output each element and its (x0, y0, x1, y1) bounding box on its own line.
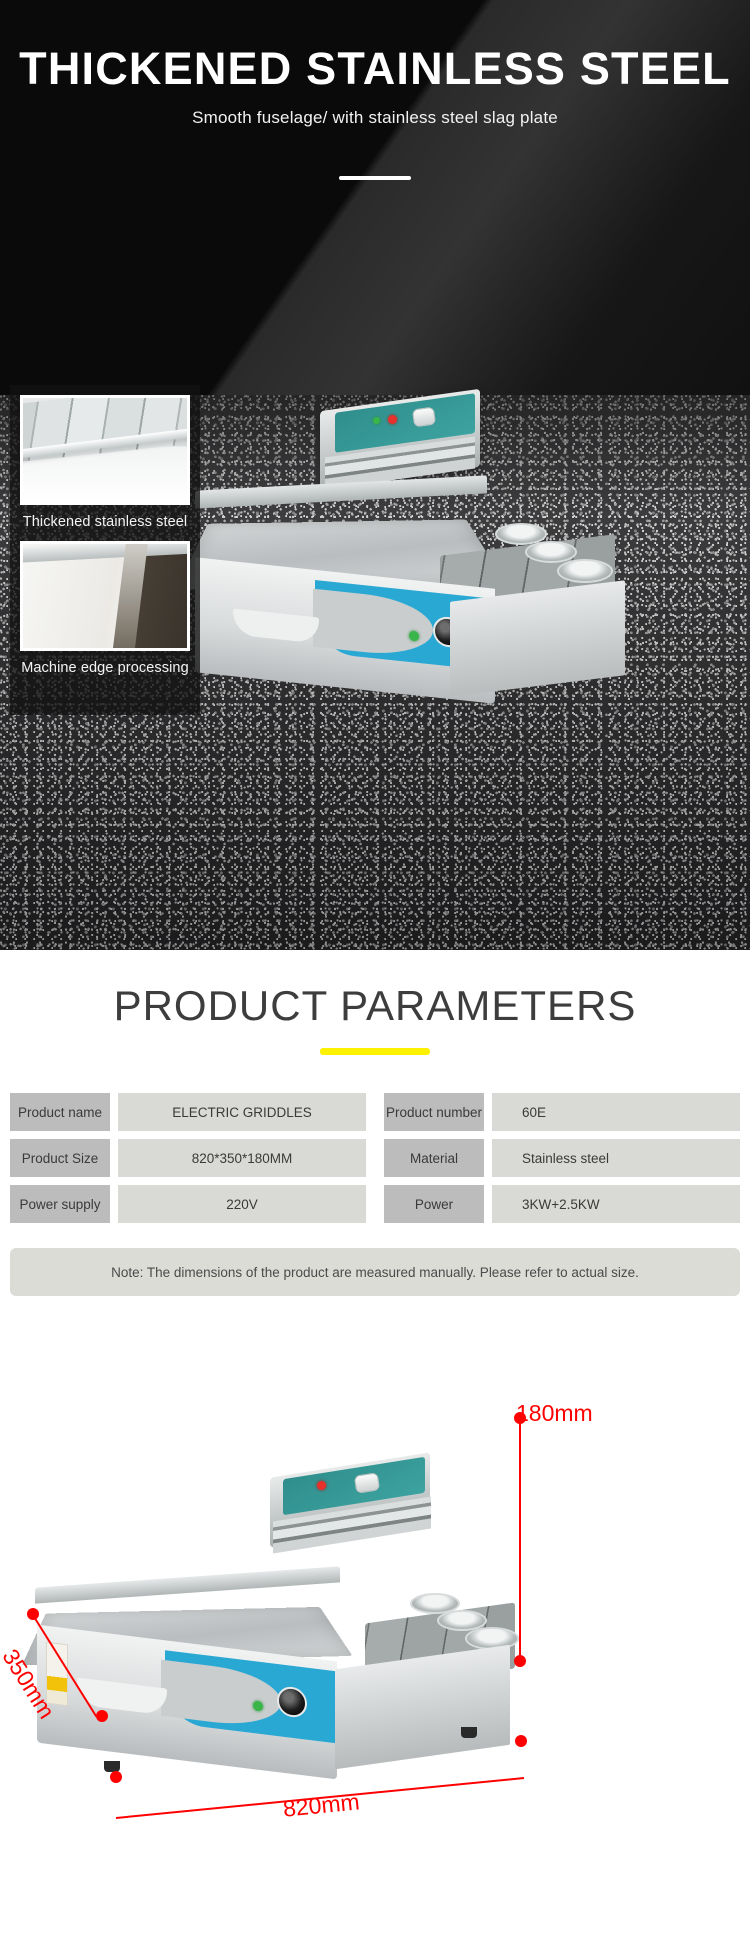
dimension-diagram-section: 180mm 820mm 350mm (0, 1410, 750, 1933)
callout-label: Machine edge processing (10, 651, 200, 687)
condiment-cabinet-body (450, 580, 625, 696)
dimension-product-image (25, 1465, 535, 1855)
dimension-endpoint-dot (110, 1771, 122, 1783)
table-row: Product number 60E (384, 1093, 740, 1131)
hero-divider-rule (339, 176, 411, 180)
parameters-column-left: Product name ELECTRIC GRIDDLES Product S… (10, 1093, 366, 1223)
callout-card: Machine edge processing (10, 541, 200, 687)
table-row: Power supply 220V (10, 1185, 366, 1223)
param-label: Power supply (10, 1185, 110, 1223)
sauce-cup-3 (557, 559, 613, 583)
warmer-red-led (317, 1481, 326, 1490)
dimension-label-height: 180mm (516, 1400, 593, 1427)
dimension-endpoint-dot (96, 1710, 108, 1722)
param-label: Product Size (10, 1139, 110, 1177)
hero-title: THICKENED STAINLESS STEEL (0, 45, 750, 92)
warmer-red-led (388, 415, 397, 424)
measurement-note: Note: The dimensions of the product are … (10, 1248, 740, 1296)
parameters-column-right: Product number 60E Material Stainless st… (384, 1093, 740, 1223)
param-value: ELECTRIC GRIDDLES (118, 1093, 366, 1131)
table-row: Product name ELECTRIC GRIDDLES (10, 1093, 366, 1131)
title-underline-accent (320, 1048, 430, 1055)
warmer-knob (412, 407, 436, 428)
warmer-green-led (373, 417, 380, 424)
condiment-cabinet-body (335, 1645, 510, 1770)
feature-callout-panel: Thickened stainless steel Machine edge p… (10, 385, 200, 715)
table-row: Power 3KW+2.5KW (384, 1185, 740, 1223)
param-value: 820*350*180MM (118, 1139, 366, 1177)
table-row: Product Size 820*350*180MM (10, 1139, 366, 1177)
table-row: Material Stainless steel (384, 1139, 740, 1177)
param-label: Material (384, 1139, 484, 1177)
param-value: 3KW+2.5KW (492, 1185, 740, 1223)
hero-product-image (195, 395, 750, 815)
product-parameters-section: PRODUCT PARAMETERS Product name ELECTRIC… (0, 950, 750, 1410)
power-indicator-green (409, 630, 419, 641)
callout-photo-machined-edge (20, 541, 190, 651)
section-title: PRODUCT PARAMETERS (0, 950, 750, 1030)
hero-banner: THICKENED STAINLESS STEEL Smooth fuselag… (0, 0, 750, 950)
hero-subtitle: Smooth fuselage/ with stainless steel sl… (0, 108, 750, 128)
griddle-splash-guard (35, 1566, 340, 1603)
sauce-cup-2 (525, 541, 577, 563)
param-value: 60E (492, 1093, 740, 1131)
param-label: Power (384, 1185, 484, 1223)
callout-label: Thickened stainless steel (10, 505, 200, 541)
dimension-endpoint-dot (514, 1655, 526, 1667)
dimension-endpoint-dot (515, 1735, 527, 1747)
param-value: Stainless steel (492, 1139, 740, 1177)
callout-card: Thickened stainless steel (10, 395, 200, 541)
param-label: Product number (384, 1093, 484, 1131)
param-label: Product name (10, 1093, 110, 1131)
power-indicator-green (253, 1700, 263, 1711)
callout-photo-thickened-steel (20, 395, 190, 505)
parameters-table: Product name ELECTRIC GRIDDLES Product S… (0, 1055, 750, 1223)
dimension-line-height (519, 1418, 521, 1658)
cabinet-foot-right (461, 1727, 477, 1738)
param-value: 220V (118, 1185, 366, 1223)
